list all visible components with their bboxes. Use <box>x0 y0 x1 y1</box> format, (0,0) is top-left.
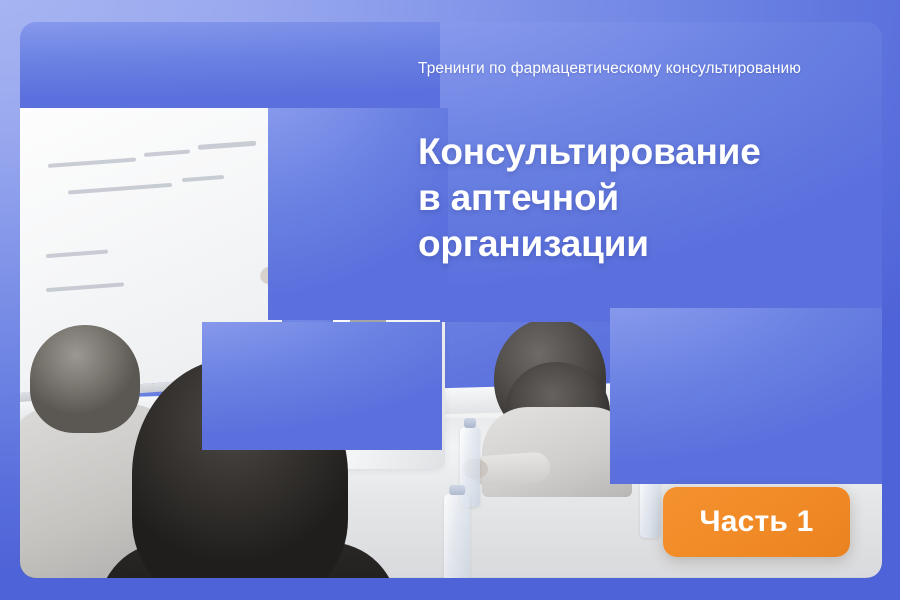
foreground-attendee-head <box>30 325 140 433</box>
promo-slide: Тренинги по фармацевтическому консультир… <box>0 0 900 600</box>
title-line-3: организации <box>418 221 848 267</box>
foreground-attendee-head-large <box>132 358 348 578</box>
part-badge-label: Часть 1 <box>699 505 813 539</box>
presenter-head <box>340 197 398 263</box>
eyebrow-text: Тренинги по фармацевтическому консультир… <box>418 57 818 81</box>
part-badge[interactable]: Часть 1 <box>663 487 850 557</box>
page-title: Консультирование в аптечной организации <box>418 129 848 267</box>
title-line-2: в аптечной <box>418 175 848 221</box>
water-bottle <box>444 494 470 578</box>
title-line-1: Консультирование <box>418 129 848 175</box>
water-bottle <box>640 462 660 538</box>
presenter-scrubs <box>350 274 386 444</box>
